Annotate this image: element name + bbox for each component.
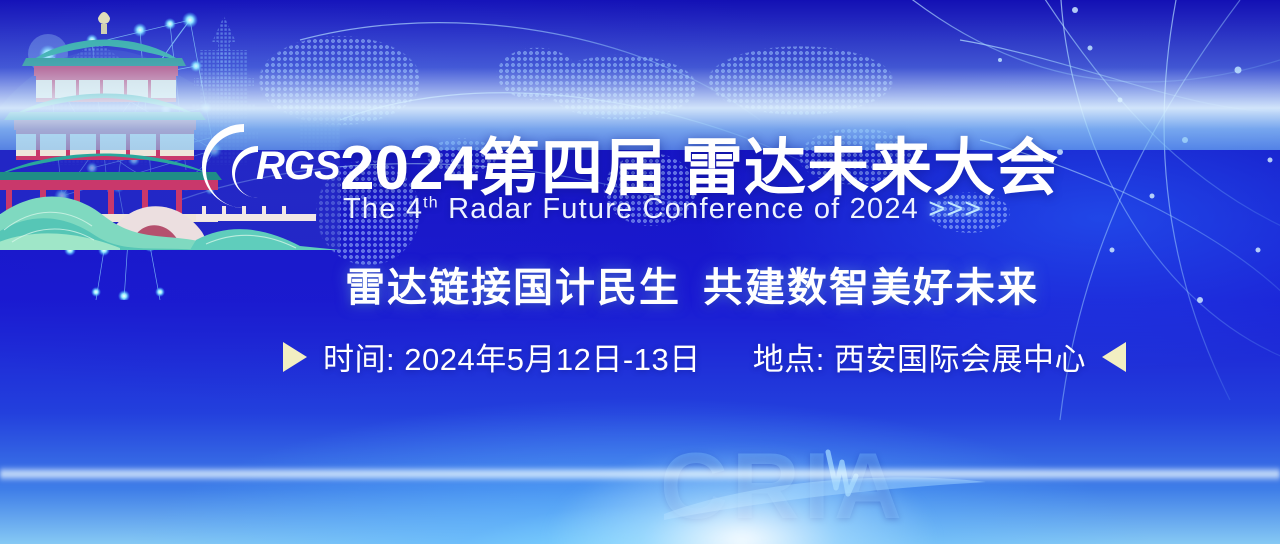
horizon-burst-glow: [462, 364, 1022, 544]
event-meta: 时间: 2024年5月12日-13日 地点: 西安国际会展中心: [283, 334, 1126, 379]
play-triangle-right-icon: [283, 342, 307, 372]
subtitle-rest: Radar Future Conference of 2024: [439, 193, 919, 225]
horizon-line: [0, 466, 1280, 482]
english-subtitle: The 4th Radar Future Conference of 2024 …: [343, 193, 982, 226]
tagline: 雷达链接国计民生共建数智美好未来: [345, 255, 1039, 313]
event-date: 时间: 2024年5月12日-13日: [323, 334, 701, 379]
subtitle-ordinal: th: [423, 194, 439, 211]
event-venue: 地点: 西安国际会展中心: [753, 334, 1086, 379]
play-triangle-left-icon: [1102, 342, 1126, 372]
tagline-left: 雷达链接国计民生: [345, 266, 681, 310]
chevron-right-icon: >>>: [928, 193, 982, 225]
crgs-logo[interactable]: RGS: [196, 118, 344, 214]
subtitle-prefix: The 4: [343, 193, 423, 225]
conference-banner: CRIA: [0, 0, 1280, 544]
crgs-logo-letters: RGS: [256, 144, 340, 189]
tagline-right: 共建数智美好未来: [703, 266, 1039, 310]
